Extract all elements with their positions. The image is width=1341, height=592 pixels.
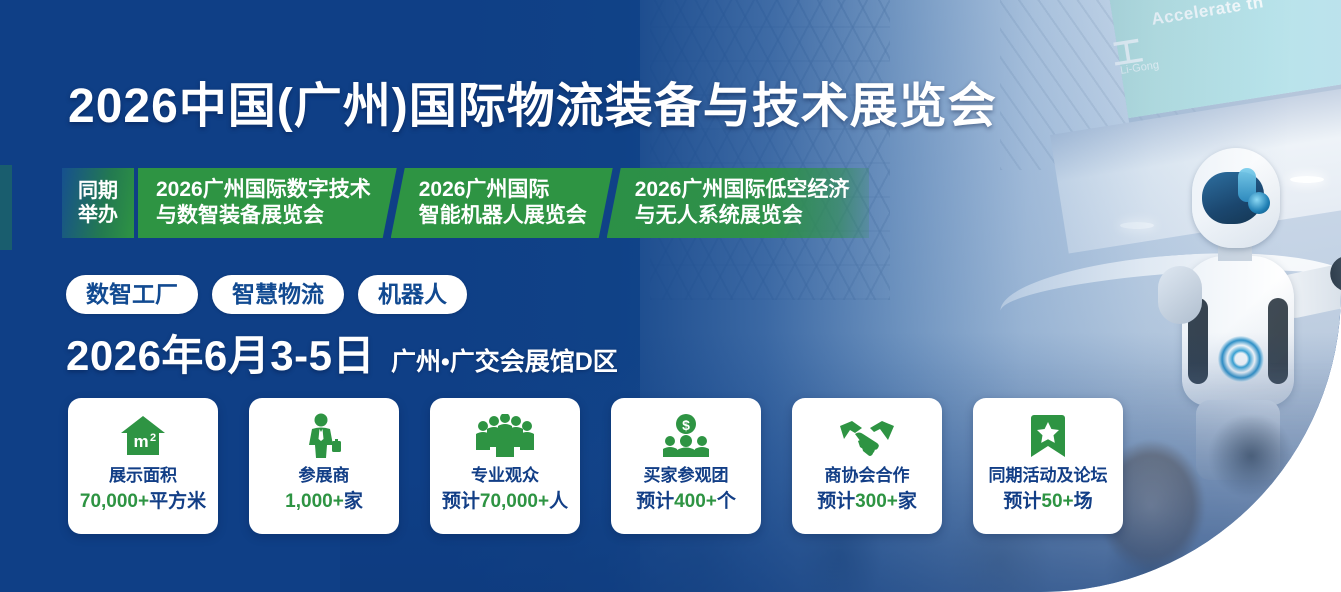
stat-prefix: 预计 [636,491,674,512]
concurrent-badge-line2: 举办 [78,203,118,227]
keyword-pill-smart-factory[interactable]: 数智工厂 [66,275,198,314]
stat-card-professional-visitors[interactable]: 专业观众 预计70,000+人 [430,398,580,534]
stat-card-buyer-groups[interactable]: $ 买家参观团 预计400+个 [611,398,761,534]
stat-number: 50+ [1041,491,1073,512]
keyword-pill-robotics[interactable]: 机器人 [358,275,467,314]
stat-prefix: 预计 [442,491,480,512]
stat-card-group: m 2 展示面积 70,000+平方米 [68,398,1123,534]
concurrent-badge-line1: 同期 [78,179,118,203]
concurrent-event-2-line1: 2026广州国际 [419,177,587,203]
svg-text:m: m [133,432,148,451]
bookmark-star-icon [1030,411,1066,461]
concurrent-event-3-line2: 与无人系统展览会 [635,203,850,229]
stat-unit: 家 [898,491,917,512]
stat-title: 展示面积 [109,466,177,486]
stat-unit: 人 [549,491,568,512]
stat-unit: 个 [717,491,736,512]
stat-prefix: 预计 [1003,491,1041,512]
stat-number: 70,000+ [480,491,549,512]
stat-value: 预计50+场 [1003,490,1092,514]
keyword-pill-smart-logistics[interactable]: 智慧物流 [212,275,344,314]
page-title: 2026中国(广州)国际物流装备与技术展览会 [68,66,997,136]
keyword-pill-group: 数智工厂 智慧物流 机器人 [66,275,467,314]
stat-value: 预计400+个 [636,490,736,514]
buyer-group-icon: $ [661,411,711,461]
stat-unit: 家 [344,491,363,512]
svg-text:$: $ [682,417,690,433]
stat-number: 400+ [674,491,717,512]
event-date: 2026年6月3-5日 [66,322,375,383]
stat-value: 预计70,000+人 [442,490,568,514]
handshake-icon [838,411,896,461]
stat-title: 专业观众 [471,466,539,486]
crowd-icon [474,411,536,461]
stat-number: 70,000+ [80,491,149,512]
stat-card-exhibition-area[interactable]: m 2 展示面积 70,000+平方米 [68,398,218,534]
house-m2-icon: m 2 [119,411,167,461]
event-venue: 广州•广交会展馆D区 [391,342,618,378]
stat-card-association-cooperation[interactable]: 商协会合作 预计300+家 [792,398,942,534]
concurrent-event-3[interactable]: 2026广州国际低空经济 与无人系统展览会 [607,168,870,238]
stat-title: 参展商 [299,466,350,486]
stat-unit: 场 [1074,491,1093,512]
concurrent-events-strip: 同期 举办 2026广州国际数字技术 与数智装备展览会 2026广州国际 智能机… [62,168,869,238]
stat-title: 商协会合作 [825,466,910,486]
stat-title: 同期活动及论坛 [989,466,1108,486]
exhibition-promo-banner: 工 Li-Gong Accelerate th [0,0,1341,592]
concurrent-event-1-line2: 与数智装备展览会 [156,203,371,229]
concurrent-badge: 同期 举办 [62,168,134,238]
stat-title: 买家参观团 [644,466,729,486]
stat-value: 70,000+平方米 [80,490,206,514]
stat-prefix: 预计 [817,491,855,512]
stat-card-exhibitors[interactable]: 参展商 1,000+家 [249,398,399,534]
stat-value: 预计300+家 [817,490,917,514]
banner-content: 2026中国(广州)国际物流装备与技术展览会 同期 举办 2026广州国际数字技… [0,0,1341,592]
event-dateline: 2026年6月3-5日 广州•广交会展馆D区 [66,322,618,383]
stat-card-events-forums[interactable]: 同期活动及论坛 预计50+场 [973,398,1123,534]
concurrent-event-2[interactable]: 2026广州国际 智能机器人展览会 [391,168,613,238]
stat-unit: 平方米 [149,491,206,512]
stat-value: 1,000+家 [285,490,363,514]
concurrent-event-1[interactable]: 2026广州国际数字技术 与数智装备展览会 [138,168,397,238]
concurrent-event-1-line1: 2026广州国际数字技术 [156,177,371,203]
stat-number: 1,000+ [285,491,344,512]
businessman-icon [304,411,344,461]
svg-text:2: 2 [150,432,156,444]
concurrent-event-2-line2: 智能机器人展览会 [419,203,587,229]
stat-number: 300+ [855,491,898,512]
concurrent-event-3-line1: 2026广州国际低空经济 [635,177,850,203]
